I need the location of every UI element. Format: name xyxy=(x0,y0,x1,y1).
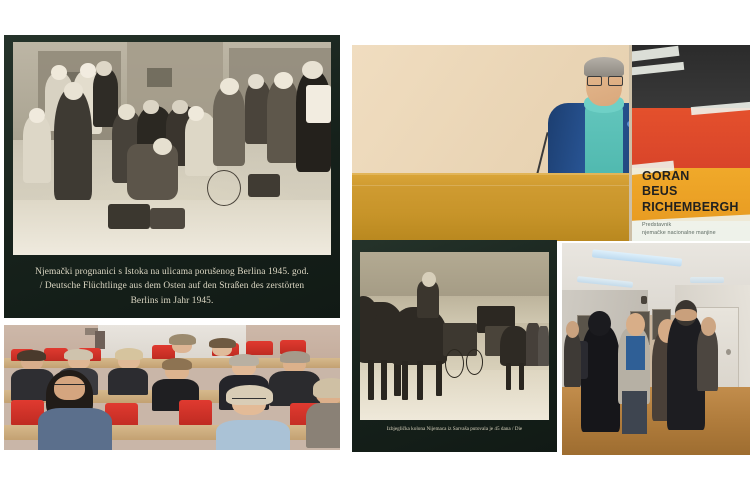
photo-figure-coat xyxy=(54,89,92,200)
spotlight-icon xyxy=(641,296,647,304)
photo-horse-leg xyxy=(381,360,388,400)
roll-up-banner: GORAN BEUS RICHEMBERGH Predstavnik njema… xyxy=(629,45,750,241)
photo-luggage xyxy=(248,174,280,197)
visitor-trousers xyxy=(622,391,646,433)
photo-figure-head xyxy=(29,108,45,123)
audience-torso-front xyxy=(306,403,340,448)
audience-hair xyxy=(17,350,46,361)
audience-hair xyxy=(115,348,144,361)
audience-glasses-icon xyxy=(54,384,84,390)
visitor-head xyxy=(588,311,611,336)
photo-walker xyxy=(538,326,549,366)
speaker-hair xyxy=(584,57,624,77)
caption-line-3: Berlins im Jahr 1945. xyxy=(35,294,309,308)
photo-figure-head xyxy=(248,74,264,89)
photo-wagon-wheel xyxy=(466,349,483,375)
photo-rider-head xyxy=(422,272,435,287)
photo-figure xyxy=(267,78,299,163)
speaker-glasses-icon xyxy=(587,76,621,84)
photo-figure-head xyxy=(153,138,172,155)
visitor-figure xyxy=(697,328,718,392)
photo-figure-head xyxy=(96,61,112,76)
caption-text: Izbjeglička kolona Nijemaca iz Sarvaša p… xyxy=(387,426,522,434)
photo-figure xyxy=(213,85,245,166)
photo-figure-head xyxy=(188,106,204,121)
caption-line-2: / Deutsche Flüchtlinge aus dem Osten auf… xyxy=(35,279,309,293)
banner-subtitle-line-2: njemačke nacionalne manjine xyxy=(642,230,716,238)
photo-horse-leg xyxy=(417,361,424,400)
photo-figure-head xyxy=(80,63,96,78)
visitor-head xyxy=(626,313,645,336)
banner-name-line-1: GORAN xyxy=(642,169,739,184)
photo-pram-wheel xyxy=(207,170,241,206)
banner-subtitle-line-1: Predstavnik xyxy=(642,222,716,230)
audience-hair xyxy=(169,334,196,345)
audience-glasses-icon xyxy=(232,398,266,404)
caption-band: Izbjeglička kolona Nijemaca iz Sarvaša p… xyxy=(352,422,557,452)
audience-hair xyxy=(229,354,259,367)
audience-hair xyxy=(162,358,192,371)
audience-torso xyxy=(108,368,148,396)
auditorium-audience xyxy=(4,325,340,450)
audience-hair xyxy=(64,349,93,360)
photo-window xyxy=(147,68,172,87)
speaker-shirt xyxy=(585,101,623,181)
audience-hair-front xyxy=(313,378,340,398)
photo-horse-leg xyxy=(402,361,409,400)
visitor-shirt xyxy=(626,336,645,370)
ceiling-light-tube xyxy=(690,277,724,283)
photo-horse-leg xyxy=(506,363,512,390)
photo-collage: Njemački prognanici s Istoka na ulicama … xyxy=(0,0,750,500)
photo-luggage xyxy=(108,204,149,230)
photo-horse-leg xyxy=(519,363,525,390)
banner-name-line-3: RICHEMBERGH xyxy=(642,200,739,215)
wall-speaker-box xyxy=(95,331,105,349)
auditorium-seat xyxy=(179,400,213,425)
wooden-podium xyxy=(352,173,648,241)
photo-figure-seated xyxy=(185,112,217,176)
gallery-corridor-visitors xyxy=(562,243,750,455)
photo-horse-leg xyxy=(436,361,443,396)
visitor-figure xyxy=(564,332,581,387)
banner-subtitle: Predstavnik njemačke nacionalne manjine xyxy=(642,222,716,238)
historical-photo-refugee-column xyxy=(360,252,549,420)
caption-line-1: Njemački prognanici s Istoka na ulicama … xyxy=(35,265,309,279)
banner-speaker-name: GORAN BEUS RICHEMBERGH xyxy=(642,169,739,215)
photo-figure-head xyxy=(118,104,135,120)
photo-figure-head xyxy=(274,72,293,89)
photo-figure-head xyxy=(172,100,188,115)
photo-figure-seated xyxy=(23,114,52,182)
lecture-speaker-at-podium: GORAN BEUS RICHEMBERGH Predstavnik njema… xyxy=(352,45,750,241)
exhibition-board-refugees: Njemački prognanici s Istoka na ulicama … xyxy=(4,35,340,318)
exhibition-board-horse-column: Izbjeglička kolona Nijemaca iz Sarvaša p… xyxy=(352,240,557,452)
photo-figure-head xyxy=(220,78,239,95)
audience-torso-front xyxy=(38,408,112,451)
caption-text: Njemački prognanici s Istoka na ulicama … xyxy=(35,265,309,307)
audience-torso-front xyxy=(216,420,290,450)
audience-hair xyxy=(280,351,310,362)
photo-horse-leg xyxy=(394,360,401,397)
historical-photo-berlin-1945 xyxy=(13,42,331,255)
photo-figure-lying xyxy=(127,144,178,199)
photo-figure-head xyxy=(64,82,83,99)
auditorium-seat xyxy=(246,341,273,355)
banner-name-line-2: BEUS xyxy=(642,184,739,199)
audience-hair xyxy=(209,338,236,348)
photo-luggage xyxy=(150,208,185,229)
caption-band: Njemački prognanici s Istoka na ulicama … xyxy=(4,255,340,318)
photo-horse-leg xyxy=(368,360,375,400)
photo-luggage xyxy=(306,85,331,123)
visitor-face xyxy=(675,309,698,322)
